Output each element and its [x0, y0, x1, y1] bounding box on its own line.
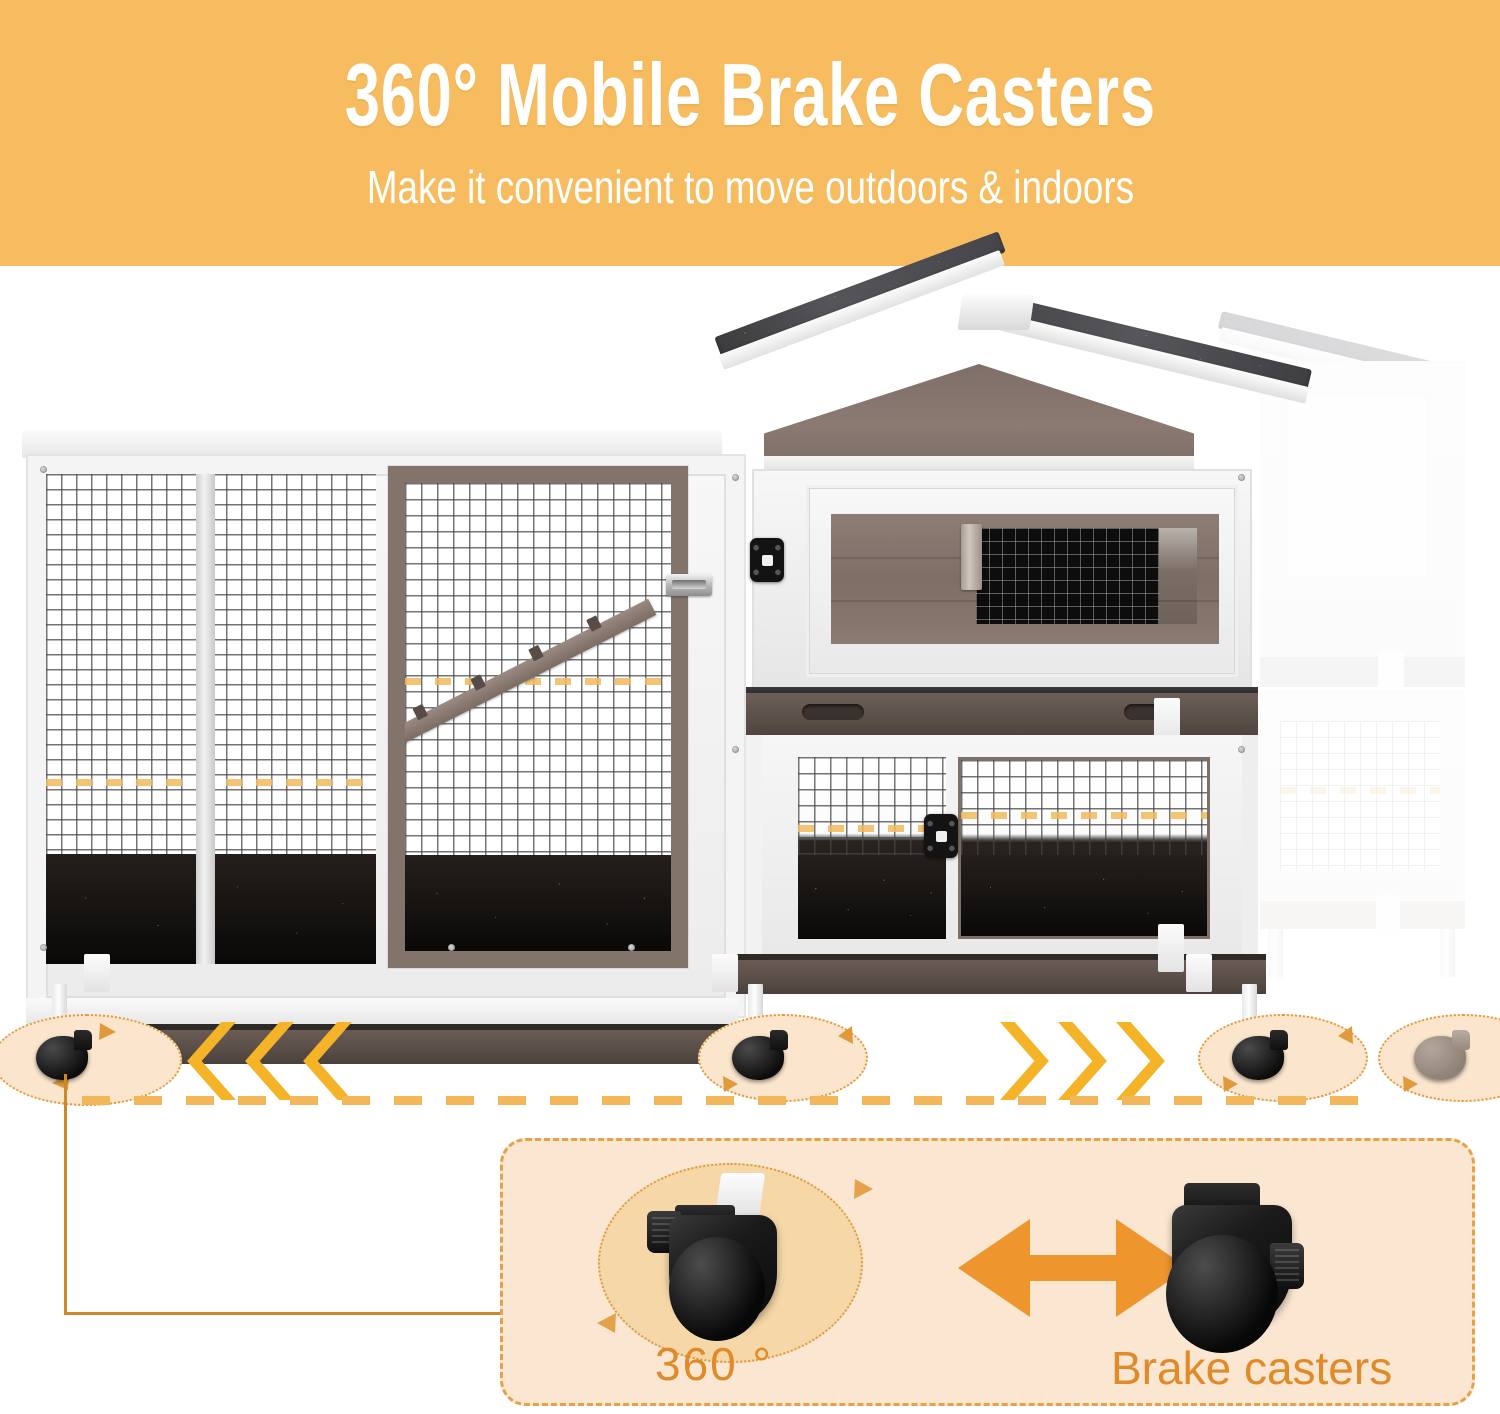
upper-door[interactable]	[806, 485, 1238, 677]
swivel-caster-icon	[653, 1181, 828, 1356]
ground-line-behind-mesh	[961, 812, 1207, 819]
rotation-arrow-icon	[854, 1179, 873, 1199]
ground-dashed-line	[82, 1096, 1382, 1105]
chevron-left-icon	[184, 1022, 236, 1100]
leg-bracket	[84, 954, 110, 992]
upper-door-wood-panel	[831, 514, 1219, 644]
screw	[1238, 746, 1245, 753]
chevrons-left	[184, 1022, 352, 1100]
screw	[732, 474, 739, 481]
gable-face	[764, 364, 1194, 476]
screw	[628, 944, 635, 951]
lower-door-latch[interactable]	[924, 814, 958, 858]
banner-title: 360° Mobile Brake Casters	[344, 52, 1155, 138]
leg-bracket	[1186, 954, 1212, 992]
header-banner: 360° Mobile Brake Casters Make it conven…	[0, 0, 1500, 266]
callout-label-brake-casters: Brake casters	[1111, 1341, 1392, 1395]
side-bracket	[1158, 924, 1184, 972]
screw	[732, 746, 739, 753]
cage-interior	[961, 760, 1207, 936]
caster-brake-lever[interactable]	[1270, 1030, 1288, 1050]
chevron-right-icon	[1000, 1022, 1052, 1100]
chevron-left-icon	[300, 1022, 352, 1100]
run-top-rail	[22, 430, 722, 458]
cage-floor-texture	[798, 855, 946, 939]
upper-hutch-body	[752, 469, 1252, 689]
run-door-latch[interactable]	[666, 574, 712, 596]
brake-caster-icon	[1158, 1183, 1338, 1363]
roof-ridge-cap	[957, 294, 1034, 330]
caster-callout-box: 360 ° Brake casters	[500, 1138, 1475, 1406]
chevrons-right	[1000, 1022, 1168, 1100]
screw	[40, 466, 47, 473]
upper-door-handle[interactable]	[961, 524, 982, 590]
screw	[1238, 474, 1245, 481]
infographic-page: 360° Mobile Brake Casters Make it conven…	[0, 0, 1500, 1414]
hutch-ghost-duplicate	[1252, 301, 1482, 1016]
upper-door-hinge[interactable]	[750, 538, 784, 582]
hutch-house-module	[722, 294, 1267, 1019]
banner-subtitle: Make it convenient to move outdoors & in…	[366, 160, 1133, 214]
screw	[448, 944, 455, 951]
pull-out-tray-upper[interactable]	[746, 693, 1258, 735]
chevron-right-icon	[1116, 1022, 1168, 1100]
run-door[interactable]	[388, 466, 688, 968]
run-center-post	[196, 474, 215, 964]
ground-line-behind-mesh	[405, 678, 671, 685]
caster-brake-lever[interactable]	[770, 1030, 788, 1050]
run-enclosure	[28, 456, 744, 1016]
double-arrow-icon	[958, 1219, 1188, 1317]
upper-door-window	[976, 528, 1197, 624]
chevron-right-icon	[1058, 1022, 1110, 1100]
caster-wheel	[1166, 1235, 1278, 1353]
tray-handle-slot[interactable]	[802, 704, 864, 720]
caster-brake-lever	[1452, 1030, 1470, 1050]
leg-bracket	[712, 954, 738, 992]
screw	[40, 944, 47, 951]
chevron-left-icon	[242, 1022, 294, 1100]
run-floor-texture	[405, 855, 671, 951]
rotation-arrow-icon	[597, 1313, 616, 1333]
caster-highlight-spot-1	[0, 1014, 182, 1106]
caster-wheel	[669, 1237, 765, 1341]
lower-cage-door-right[interactable]	[958, 757, 1210, 939]
callout-label-360: 360 °	[655, 1337, 773, 1391]
caster-brake-lever[interactable]	[74, 1030, 92, 1050]
